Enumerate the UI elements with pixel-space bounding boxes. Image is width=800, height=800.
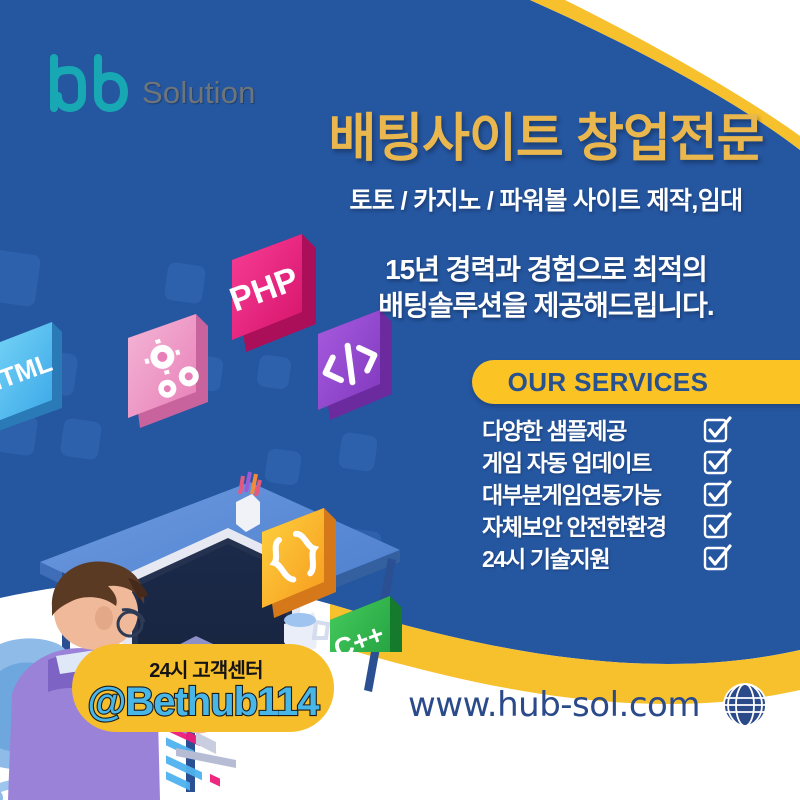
our-services-title: OUR SERVICES — [508, 367, 777, 398]
service-item: 다양한 샘플제공 — [482, 414, 732, 444]
brand-logo: Solution — [40, 52, 256, 114]
service-item: 대부분게임연동가능 — [482, 478, 732, 508]
contact-handle[interactable]: @Bethub114 — [87, 681, 318, 723]
hero-headline: 배팅사이트 창업전문 — [300, 112, 792, 167]
logo-wordmark: Solution — [142, 75, 256, 111]
service-item: 자체보안 안전한환경 — [482, 510, 732, 540]
service-label: 다양한 샘플제공 — [482, 412, 626, 446]
badge-braces — [262, 508, 336, 618]
pitch-line-1: 15년 경력과 경험으로 최적의 — [300, 252, 792, 288]
globe-icon — [722, 682, 768, 728]
hero-headline-block: 배팅사이트 창업전문 토토 / 카지노 / 파워볼 사이트 제작,임대 — [300, 112, 792, 217]
checkbox-checked-icon — [702, 510, 732, 540]
hero-subheadline: 토토 / 카지노 / 파워볼 사이트 제작,임대 — [300, 181, 792, 217]
service-label: 자체보안 안전한환경 — [482, 508, 666, 542]
hub-logomark-icon — [40, 52, 140, 114]
checkbox-checked-icon — [702, 478, 732, 508]
website-url[interactable]: www.hub-sol.com — [408, 685, 700, 725]
hero-pitch-block: 15년 경력과 경험으로 최적의 배팅솔루션을 제공해드립니다. — [300, 252, 792, 325]
badge-gears — [128, 314, 208, 428]
checkbox-checked-icon — [702, 446, 732, 476]
badge-code-tag — [318, 310, 392, 420]
contact-hours-label: 24시 고객센터 — [149, 654, 262, 683]
badge-html: HTML — [0, 322, 62, 434]
service-label: 24시 기술지원 — [482, 540, 609, 574]
contact-pill[interactable]: 24시 고객센터 @Bethub114 — [72, 644, 334, 732]
service-item: 게임 자동 업데이트 — [482, 446, 732, 476]
checkbox-checked-icon — [702, 542, 732, 572]
pitch-line-2: 배팅솔루션을 제공해드립니다. — [300, 288, 792, 324]
website-block[interactable]: www.hub-sol.com — [408, 682, 768, 728]
services-list: 다양한 샘플제공 게임 자동 업데이트 대부분게임연동가능 자체보안 안전한환경 — [482, 414, 732, 574]
our-services-banner: OUR SERVICES — [472, 360, 800, 404]
promo-banner: Solution — [0, 0, 800, 800]
service-item: 24시 기술지원 — [482, 542, 732, 572]
service-label: 게임 자동 업데이트 — [482, 444, 651, 478]
badge-cpp: C++ — [330, 596, 402, 652]
checkbox-checked-icon — [702, 414, 732, 444]
service-label: 대부분게임연동가능 — [482, 476, 661, 510]
